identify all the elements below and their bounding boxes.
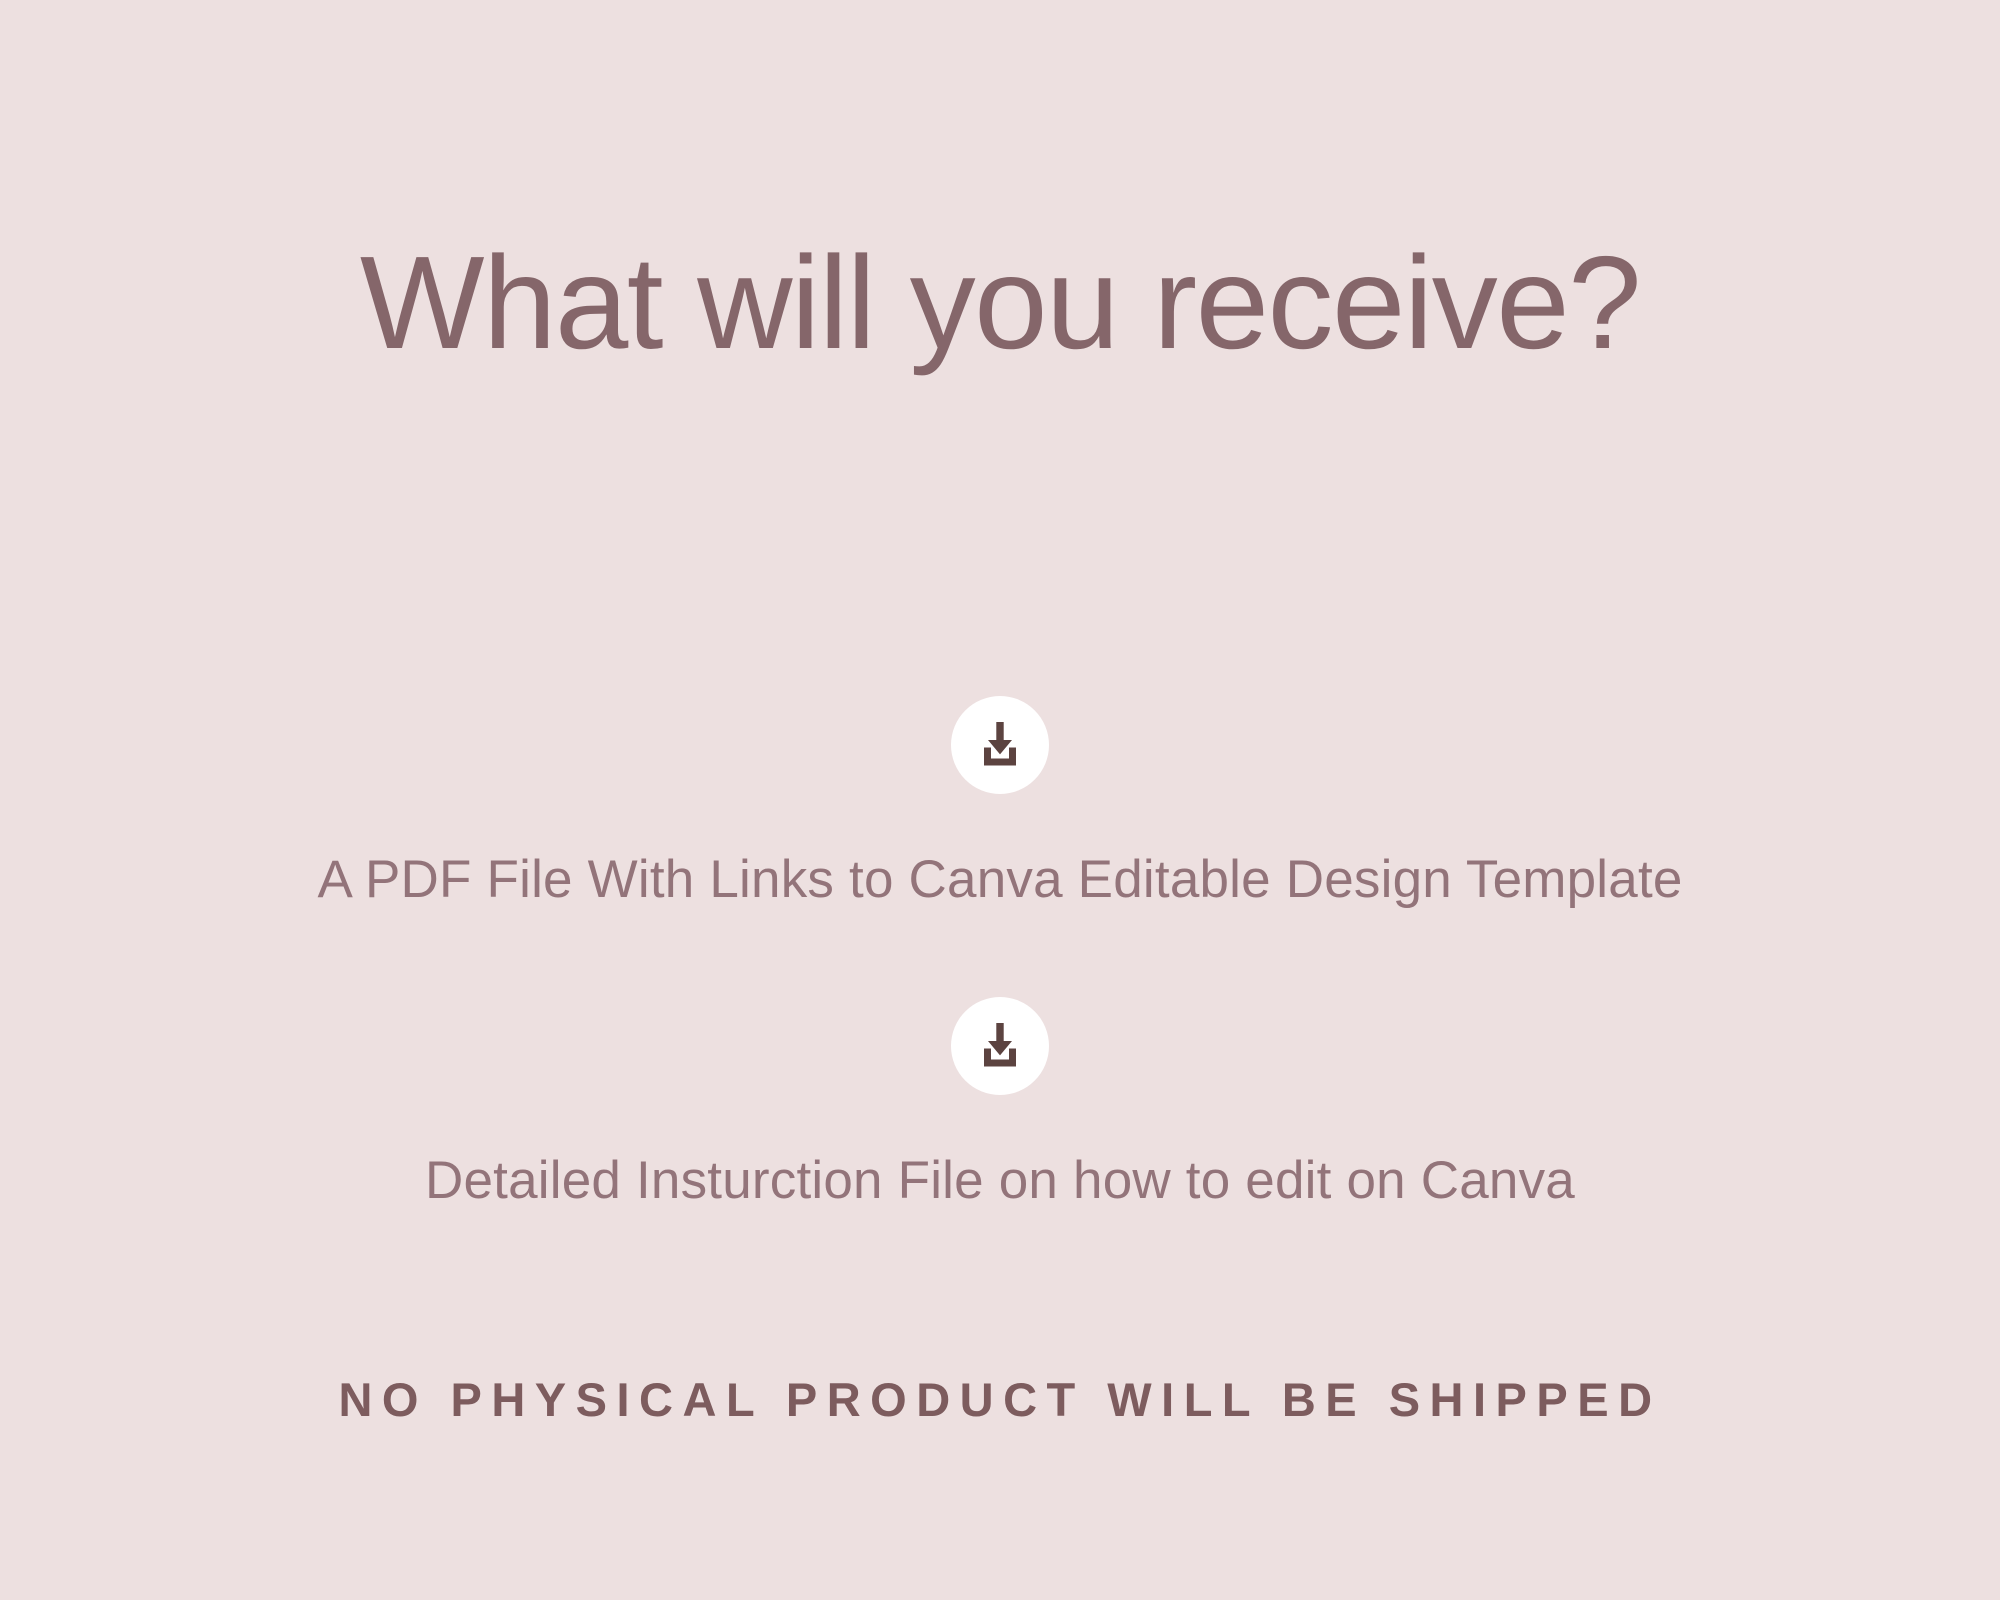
page-title: What will you receive? xyxy=(360,236,1640,371)
feature-item-pdf: A PDF File With Links to Canva Editable … xyxy=(0,696,2000,910)
feature-label: Detailed Insturction File on how to edit… xyxy=(425,1150,1575,1211)
promo-graphic: What will you receive? A PDF File With L… xyxy=(0,0,2000,1600)
download-icon xyxy=(951,696,1049,794)
shipping-disclaimer: NO PHYSICAL PRODUCT WILL BE SHIPPED xyxy=(338,1372,1661,1427)
feature-label: A PDF File With Links to Canva Editable … xyxy=(317,849,1682,910)
feature-item-instructions: Detailed Insturction File on how to edit… xyxy=(0,997,2000,1211)
download-icon xyxy=(951,997,1049,1095)
